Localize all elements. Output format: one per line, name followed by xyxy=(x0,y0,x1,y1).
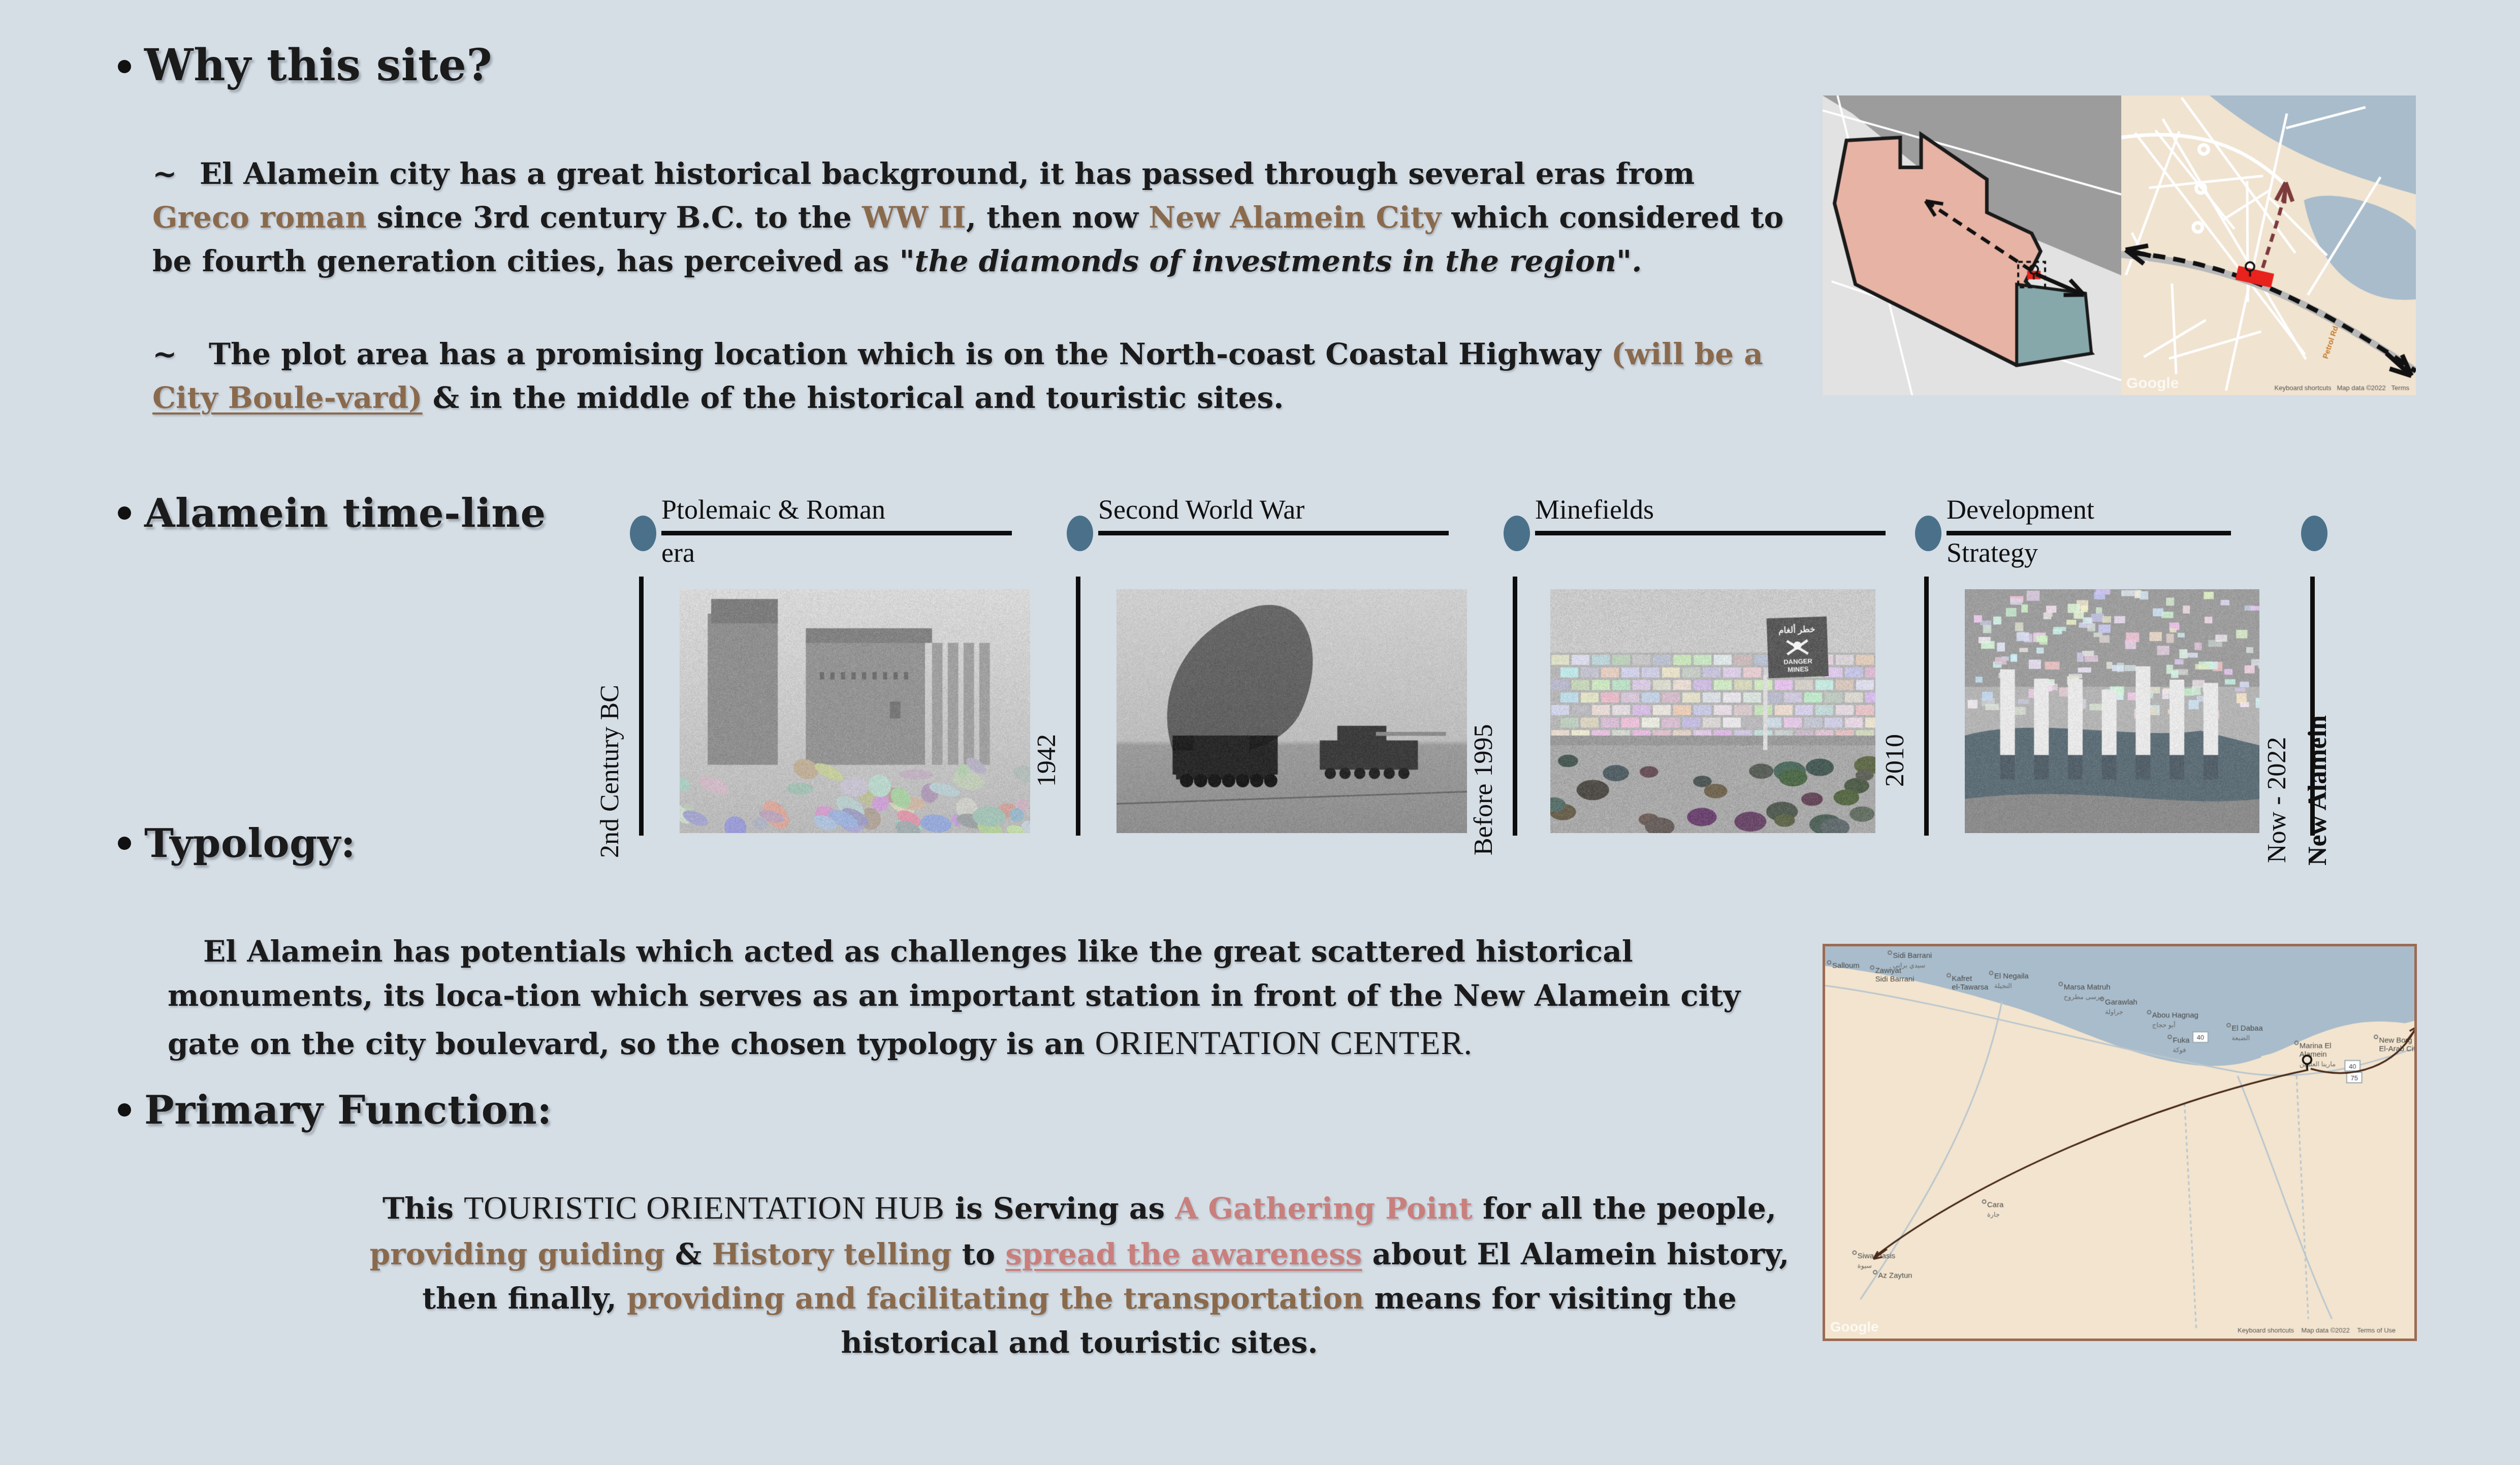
timeline-vbar-4 xyxy=(1924,577,1929,836)
heading-primary-function: Primary Function: xyxy=(118,1087,552,1133)
primary-text4: & xyxy=(665,1237,712,1271)
why-p2-accent-open: (will be a xyxy=(1611,337,1763,371)
primary-accent-transportation: providing and facilitating the transport… xyxy=(627,1281,1364,1316)
why-paragraph-2: ~ The plot area has a promising location… xyxy=(152,333,1788,420)
palmyra-ruins-photo xyxy=(680,589,1030,833)
timeline-label-3: Minefields xyxy=(1535,494,1654,525)
why-p1-text2: since 3rd century B.C. to the xyxy=(367,200,862,235)
timeline-dot-icon-2 xyxy=(1067,516,1093,551)
why-p1-quote: "the diamonds of investments in the regi… xyxy=(899,244,1642,278)
timeline-vbar-3 xyxy=(1513,577,1517,836)
why-p2-text2: & in the middle of the historical and to… xyxy=(423,380,1284,415)
heading-typology-label: Typology: xyxy=(144,820,356,867)
timeline-dot-icon-5 xyxy=(2301,516,2327,551)
bullet-marker-icon-3 xyxy=(118,837,131,850)
timeline-dot-icon-4 xyxy=(1915,516,1941,551)
typology-text: El Alamein has potentials which acted as… xyxy=(168,934,1740,1061)
primary-rose-gathering-point: A Gathering Point xyxy=(1175,1191,1472,1226)
primary-caps-touristic-hub: TOURISTIC ORIENTATION HUB xyxy=(464,1190,945,1226)
why-p1-accent-greco-roman: Greco roman xyxy=(152,200,367,235)
timeline-label-4b: Strategy xyxy=(1947,537,2038,568)
primary-text3: for all the people, xyxy=(1473,1191,1776,1226)
timeline-label-new-alamein: New Alamein xyxy=(2303,715,2333,866)
presentation-slide: Why this site? ~ El Alamein city has a g… xyxy=(0,0,2520,1465)
timeline-vbar-1 xyxy=(639,577,644,836)
why-p2-text1: The plot area has a promising location w… xyxy=(209,337,1611,371)
primary-text1: This xyxy=(382,1191,464,1226)
why-p1-text3: , then now xyxy=(966,200,1149,235)
primary-accent-history-telling: History telling xyxy=(712,1237,951,1271)
timeline: Ptolemaic & Roman era 2nd Century BC Sec… xyxy=(630,500,2347,836)
burning-tank-photo xyxy=(1117,589,1467,833)
bullet-marker-icon xyxy=(118,60,131,73)
dash-marker-2: ~ xyxy=(152,337,178,371)
why-p1-accent-new-alamein-city: New Alamein City xyxy=(1149,200,1441,235)
timeline-year-1: 2nd Century BC xyxy=(595,685,625,858)
timeline-label-1: Ptolemaic & Roman xyxy=(661,494,885,525)
timeline-year-4: 2010 xyxy=(1880,734,1910,787)
new-alamein-street-map[interactable] xyxy=(2121,95,2416,395)
typology-emphasis-orientation-center: ORIENTATION CENTER. xyxy=(1095,1025,1473,1062)
timeline-rule-1 xyxy=(661,531,1012,535)
timeline-label-4: Development xyxy=(1947,494,2094,525)
primary-text5: to xyxy=(951,1237,1005,1271)
primary-accent-providing-guiding: providing guiding xyxy=(370,1237,665,1271)
bullet-marker-icon-4 xyxy=(118,1103,131,1117)
danger-mines-sign-photo xyxy=(1550,589,1875,833)
timeline-vbar-2 xyxy=(1076,577,1080,836)
timeline-dot-icon-1 xyxy=(630,516,656,551)
typology-paragraph: El Alamein has potentials which acted as… xyxy=(168,930,1788,1068)
primary-link-spread-awareness[interactable]: spread the awareness xyxy=(1005,1237,1362,1271)
why-p2-link-city-boulevard[interactable]: City Boule-vard) xyxy=(152,380,423,415)
dash-marker: ~ xyxy=(152,156,178,191)
timeline-year-now: Now - 2022 xyxy=(2262,737,2292,863)
timeline-rule-4 xyxy=(1947,531,2231,535)
heading-why-label: Why this site? xyxy=(144,40,492,91)
why-p1-text1: El Alamein city has a great historical b… xyxy=(200,156,1695,191)
timeline-rule-3 xyxy=(1535,531,1886,535)
north-coast-region-map[interactable] xyxy=(1823,944,2417,1341)
heading-typology: Typology: xyxy=(118,820,356,867)
timeline-label-1b: era xyxy=(661,537,695,568)
new-alamein-aerial-photo xyxy=(1965,589,2259,833)
heading-timeline-label: Alamein time-line xyxy=(144,490,546,536)
heading-primary-label: Primary Function: xyxy=(144,1087,552,1133)
why-p1-accent-wwii: WW II xyxy=(862,200,966,235)
timeline-label-2: Second World War xyxy=(1098,494,1304,525)
why-paragraph-1: ~ El Alamein city has a great historical… xyxy=(152,152,1788,283)
timeline-dot-icon-3 xyxy=(1504,516,1530,551)
primary-function-paragraph: This TOURISTIC ORIENTATION HUB is Servin… xyxy=(366,1184,1793,1365)
timeline-year-2: 1942 xyxy=(1032,734,1062,787)
primary-text2: is Serving as xyxy=(945,1191,1175,1226)
timeline-rule-2 xyxy=(1098,531,1449,535)
timeline-year-3: Before 1995 xyxy=(1469,724,1498,855)
heading-why-this-site: Why this site? xyxy=(118,40,492,91)
bullet-marker-icon-2 xyxy=(118,506,131,520)
el-alamein-zone-map[interactable] xyxy=(1823,95,2121,395)
heading-alamein-timeline: Alamein time-line xyxy=(118,490,546,536)
